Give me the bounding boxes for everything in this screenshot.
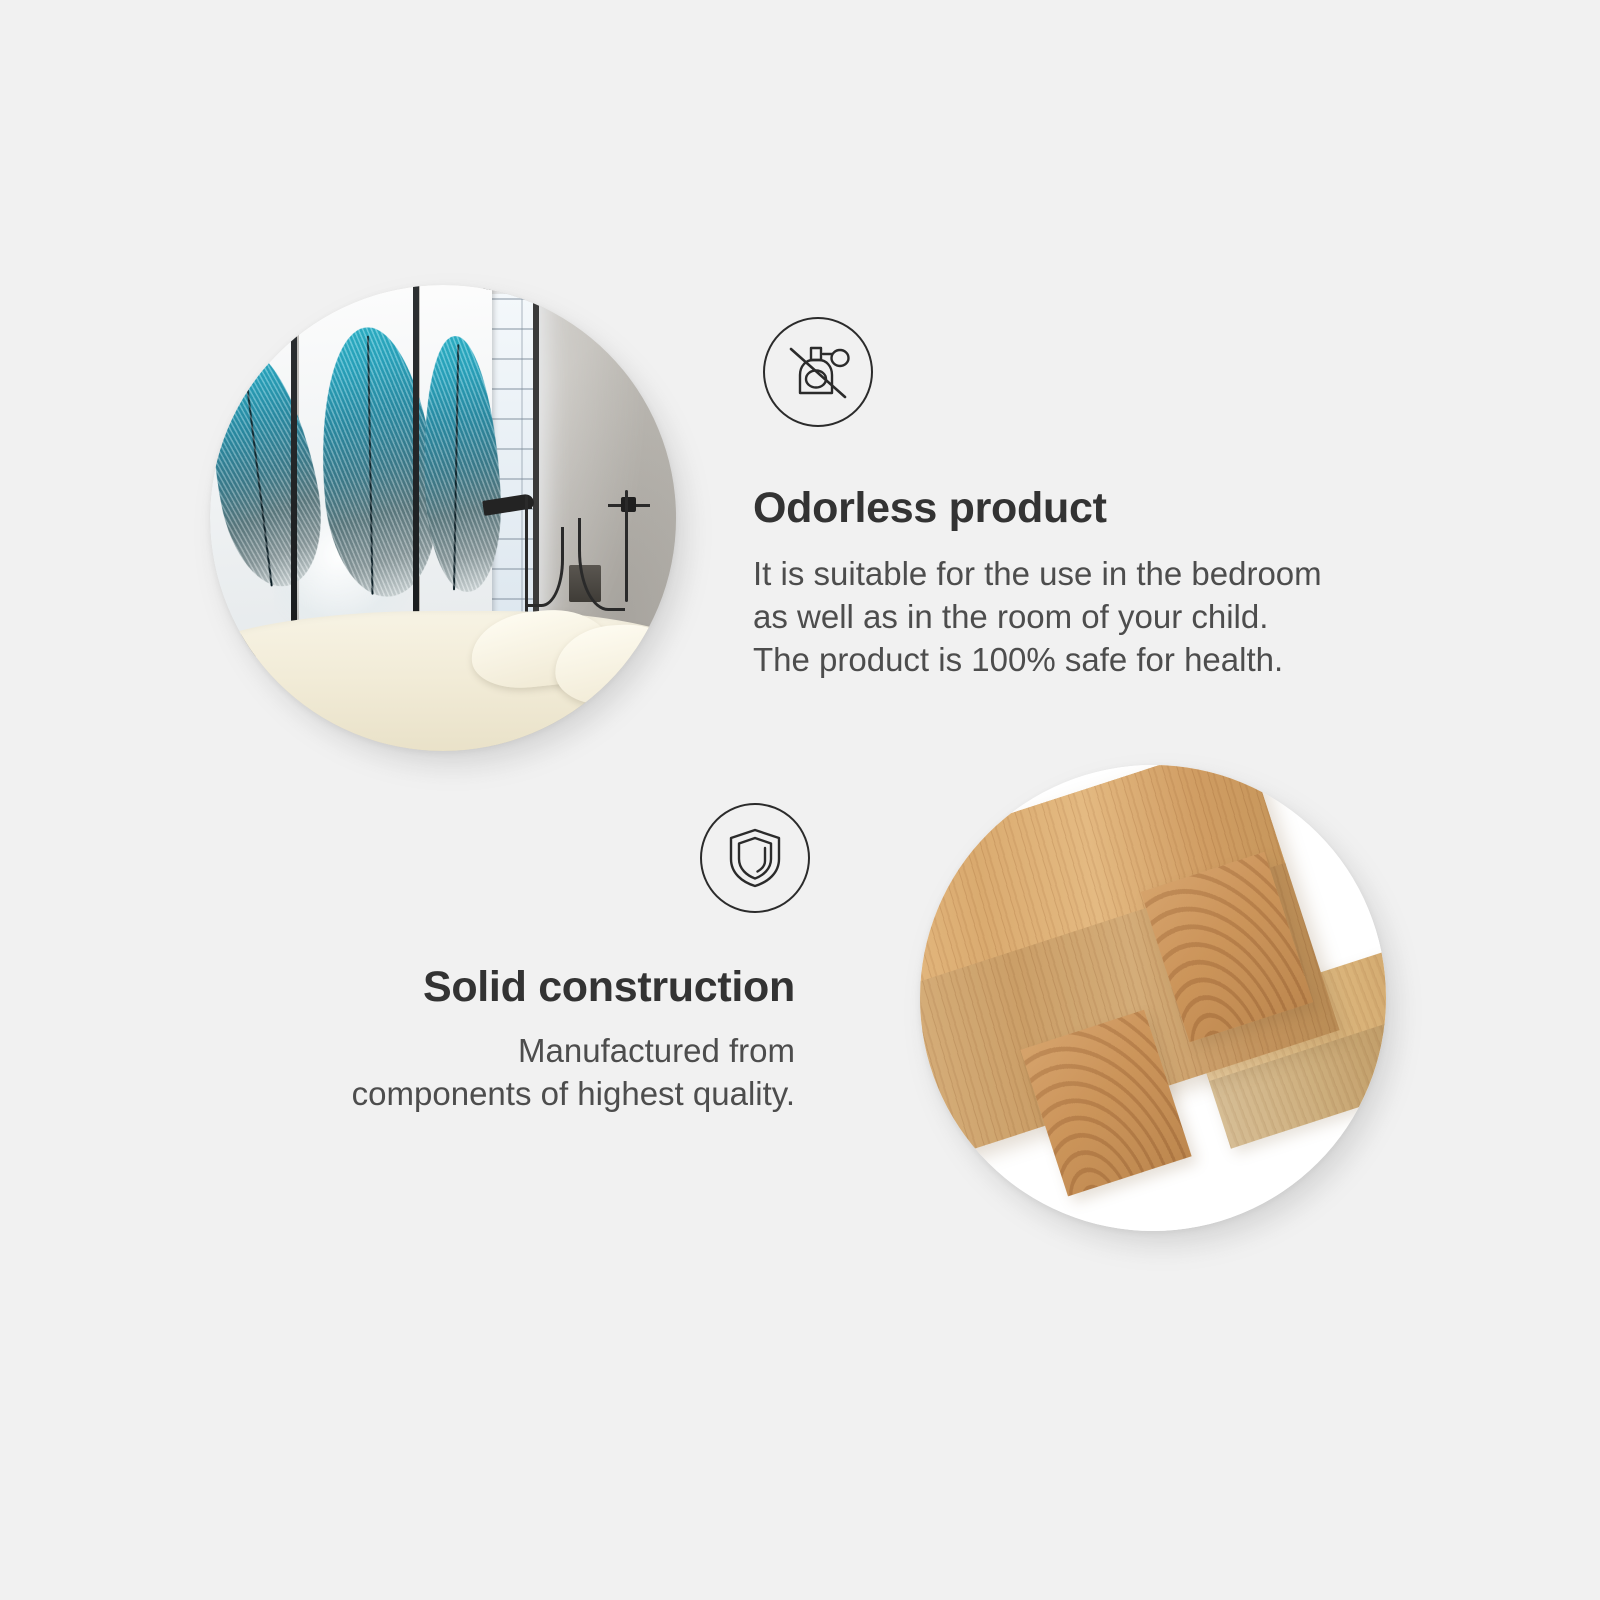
solid-construction-description: Manufactured from components of highest … [352,1030,795,1116]
wall-lamp-joint [621,497,636,512]
no-odor-perfume-bottle-icon [763,317,873,427]
odorless-feature-text: Odorless product It is suitable for the … [753,484,1322,682]
odorless-description-line-1: It is suitable for the use in the bedroo… [753,553,1322,596]
odorless-description-line-3: The product is 100% safe for health. [753,639,1322,682]
solid-construction-description-line-1: Manufactured from [352,1030,795,1073]
bedroom-feather-art-photo [210,285,676,751]
bedroom-scene [210,285,676,751]
shield-icon [700,803,810,913]
odorless-description: It is suitable for the use in the bedroo… [753,553,1322,682]
panel-divider-2 [413,285,419,658]
solid-construction-feature-text: Solid construction Manufactured from com… [352,963,795,1116]
panel-divider-1 [291,285,297,658]
product-feature-page: Odorless product It is suitable for the … [0,0,1600,1600]
odorless-description-line-2: as well as in the room of your child. [753,596,1322,639]
wood-scene [920,765,1386,1231]
odorless-title: Odorless product [753,484,1322,533]
solid-construction-description-line-2: components of highest quality. [352,1073,795,1116]
solid-construction-title: Solid construction [352,963,795,1012]
wooden-beams-photo [920,765,1386,1231]
wall-lamp-pole [625,490,628,602]
